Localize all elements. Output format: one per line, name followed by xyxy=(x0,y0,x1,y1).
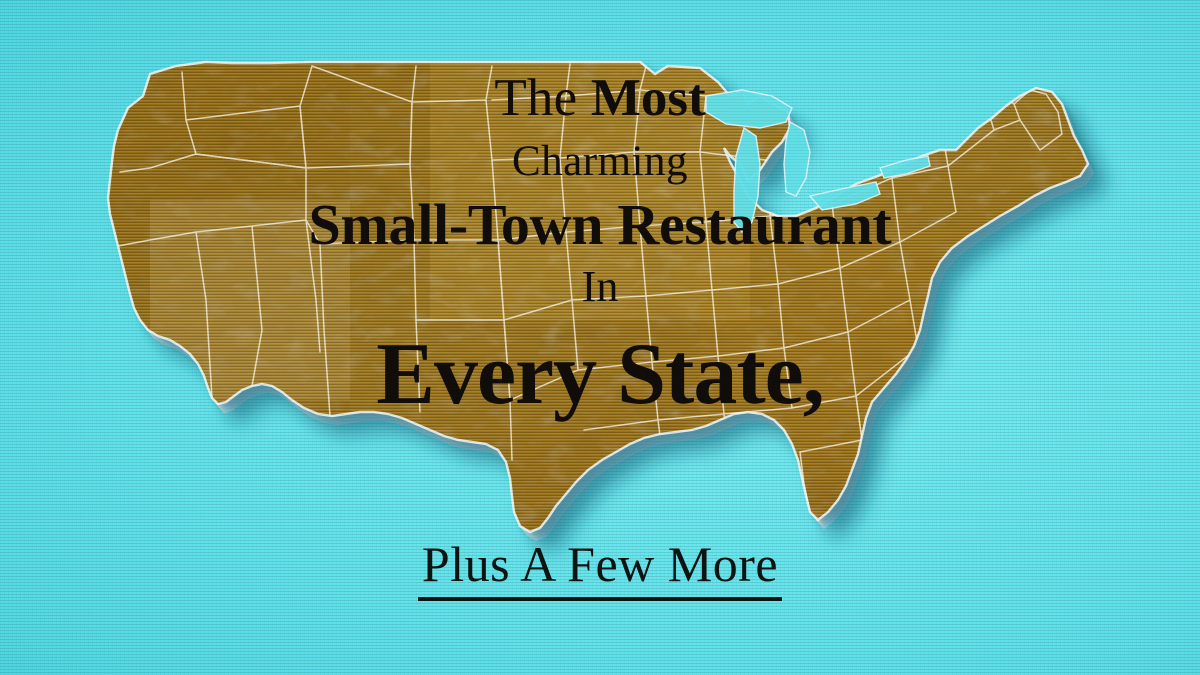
usa-map xyxy=(0,0,1200,675)
usa-map-graphic xyxy=(0,0,1200,675)
map-terrain-texture xyxy=(0,0,1200,675)
poster-canvas: The Most Charming Small-Town Restaurant … xyxy=(0,0,1200,675)
